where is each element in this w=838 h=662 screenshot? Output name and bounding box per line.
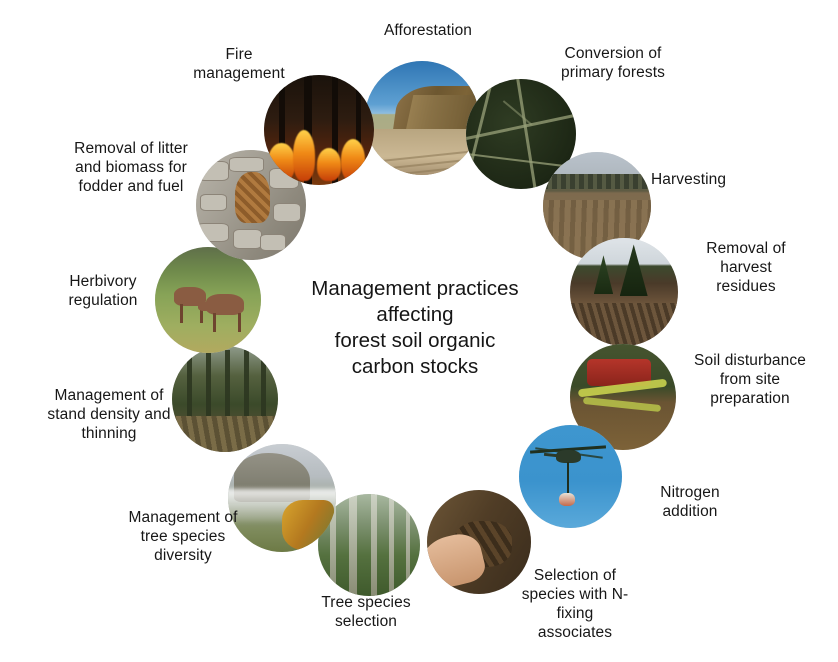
label-selection-of-species-with-n-fixing-associates: Selection of species with N- fixing asso… — [499, 566, 651, 642]
label-nitrogen-addition: Nitrogen addition — [620, 483, 760, 521]
label-soil-disturbance-from-site-preparation: Soil disturbance from site preparation — [664, 351, 836, 408]
nitrogen-addition-photo — [519, 425, 622, 528]
label-conversion-of-primary-forests: Conversion of primary forests — [520, 44, 706, 82]
herbivory-regulation-photo — [155, 247, 261, 353]
label-herbivory-regulation: Herbivory regulation — [38, 272, 168, 310]
label-removal-of-litter-and-biomass-for-fodder-and-fuel: Removal of litter and biomass for fodder… — [47, 139, 215, 196]
infographic-canvas: Afforestation Conversion of primary fore… — [0, 0, 838, 662]
afforestation-photo — [365, 61, 479, 175]
label-removal-of-harvest-residues: Removal of harvest residues — [676, 239, 816, 296]
removal-of-harvest-residues-photo — [570, 238, 678, 346]
fire-management-photo — [264, 75, 374, 185]
label-management-of-tree-species-diversity: Management of tree species diversity — [103, 508, 263, 565]
label-tree-species-selection: Tree species selection — [290, 593, 442, 631]
label-afforestation: Afforestation — [313, 21, 543, 40]
label-harvesting: Harvesting — [651, 170, 811, 189]
center-title: Management practices affecting forest so… — [249, 276, 581, 380]
label-fire-management: Fire management — [163, 45, 315, 83]
label-management-of-stand-density-and-thinning: Management of stand density and thinning — [26, 386, 192, 443]
